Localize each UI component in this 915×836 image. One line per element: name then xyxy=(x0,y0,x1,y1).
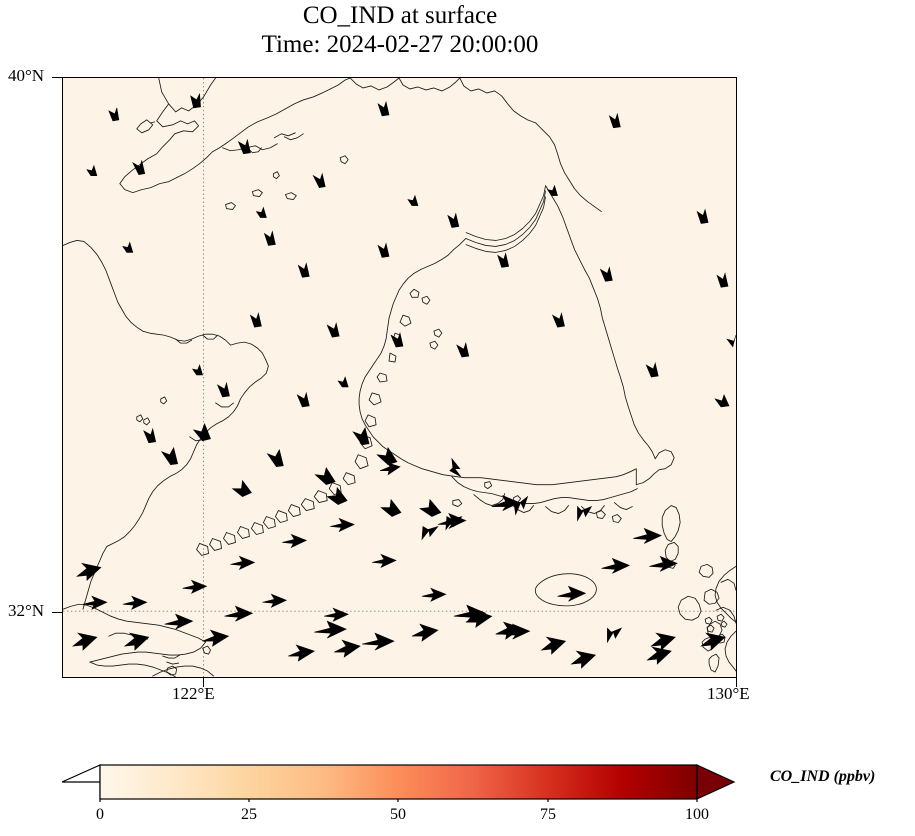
title-line-time: Time: 2024-02-27 20:00:00 xyxy=(0,31,800,60)
ytick-label-40N: 40°N xyxy=(8,66,44,86)
colorbar[interactable]: 0 25 50 75 100 xyxy=(62,762,762,802)
colorbar-extend-min xyxy=(62,765,100,799)
xtick-label-130E: 130°E xyxy=(707,684,750,704)
xtick-mark-130E xyxy=(736,678,737,687)
colorbar-extend-max xyxy=(697,765,734,799)
map-plot-area[interactable] xyxy=(62,77,737,678)
figure-title: CO_IND at surface Time: 2024-02-27 20:00… xyxy=(0,2,800,59)
map-svg xyxy=(63,78,736,677)
title-line-variable: CO_IND at surface xyxy=(0,2,800,31)
colorbar-gradient-bar xyxy=(100,765,697,799)
ytick-mark-40N xyxy=(52,77,62,78)
coastline-group xyxy=(63,78,736,677)
figure-canvas: CO_IND at surface Time: 2024-02-27 20:00… xyxy=(0,0,915,836)
ytick-label-32N: 32°N xyxy=(8,601,44,621)
colorbar-axis-label: CO_IND (ppbv) xyxy=(770,768,875,786)
colorbar-tick-label-100: 100 xyxy=(679,806,715,824)
colorbar-tick-label-50: 50 xyxy=(380,806,416,824)
xtick-mark-122E xyxy=(203,678,204,687)
xtick-label-122E: 122°E xyxy=(172,684,215,704)
colorbar-tick-label-0: 0 xyxy=(82,806,118,824)
colorbar-svg xyxy=(62,762,762,802)
ytick-mark-32N xyxy=(52,612,62,613)
colorbar-tick-label-25: 25 xyxy=(231,806,267,824)
colorbar-tick-label-75: 75 xyxy=(530,806,566,824)
